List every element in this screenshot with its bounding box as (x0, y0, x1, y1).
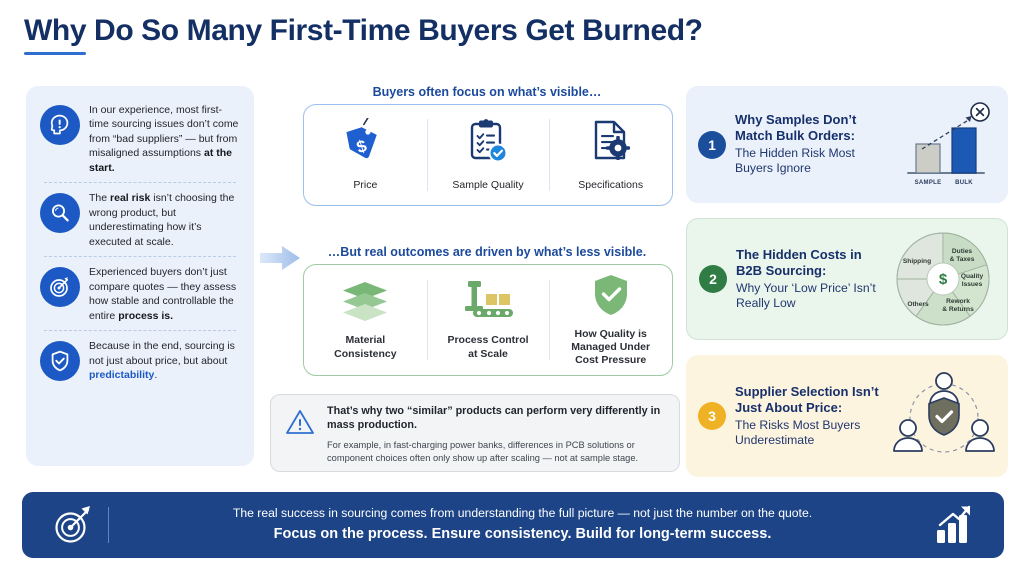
visible-factors-card: $ Price (303, 104, 673, 206)
factor-specifications: Specifications (549, 105, 672, 205)
page-title-block: Why Do So Many First-Time Buyers Get Bur… (24, 14, 703, 55)
card-number-badge: 3 (698, 402, 726, 430)
bar-chart-sample-vs-bulk: SAMPLE BULK (892, 99, 996, 191)
factor-label: MaterialConsistency (334, 334, 396, 360)
target-arrow-icon (42, 504, 104, 546)
svg-text:Issues: Issues (962, 281, 983, 288)
warning-triangle-icon (283, 404, 317, 462)
card-title-light: The Risks Most Buyers Underestimate (735, 418, 892, 449)
hidden-heading: …But real outcomes are driven by what’s … (292, 245, 682, 259)
svg-text:& Returns: & Returns (942, 306, 974, 313)
note-headline: That’s why two “similar” products can pe… (327, 404, 667, 433)
svg-text:Shipping: Shipping (903, 258, 931, 265)
factor-sample-quality: Sample Quality (427, 105, 550, 205)
note-detail: For example, in fast-charging power bank… (327, 439, 667, 465)
factor-label: Sample Quality (452, 179, 523, 192)
svg-text:Others: Others (907, 301, 929, 308)
factor-quality-under-cost: How Quality isManaged UnderCost Pressure (549, 265, 672, 375)
target-arrow-icon (40, 267, 80, 307)
card-title-light: Why Your ‘Low Price’ Isn’t Really Low (736, 281, 891, 312)
card-title-bold: Supplier Selection Isn’t Just About Pric… (735, 384, 892, 416)
factor-label: Price (353, 179, 377, 192)
factor-process-control: Process Controlat Scale (427, 265, 550, 375)
card-number-badge: 1 (698, 131, 726, 159)
card-number-badge: 2 (699, 265, 727, 293)
layers-icon (338, 279, 392, 328)
factor-label: How Quality isManaged UnderCost Pressure (571, 328, 650, 367)
hidden-factors-card: MaterialConsistency (303, 264, 673, 376)
clipboard-check-icon (465, 118, 511, 173)
right-card-hidden-costs[interactable]: 2 The Hidden Costs in B2B Sourcing: Why … (686, 218, 1008, 340)
insight-item-experienced-buyers: Experienced buyers don’t just compare qu… (38, 258, 242, 330)
mass-production-note: That’s why two “similar” products can pe… (270, 394, 680, 472)
insight-text: Experienced buyers don’t just compare qu… (89, 265, 240, 323)
visible-heading: Buyers often focus on what’s visible… (292, 85, 682, 99)
infographic-page: Why Do So Many First-Time Buyers Get Bur… (0, 0, 1024, 576)
factor-label: Process Controlat Scale (447, 334, 528, 360)
svg-text:$: $ (939, 271, 948, 288)
bottom-summary-banner: The real success in sourcing comes from … (22, 492, 1004, 558)
insight-text: Because in the end, sourcing is not just… (89, 339, 240, 382)
factor-price: $ Price (304, 105, 427, 205)
magnifier-icon (40, 193, 80, 233)
factor-material-consistency: MaterialConsistency (304, 265, 427, 375)
card-title-bold: Why Samples Don’t Match Bulk Orders: (735, 112, 892, 144)
insight-item-assumptions: In our experience, most first-time sourc… (38, 96, 242, 182)
svg-text:Duties: Duties (952, 248, 972, 255)
svg-text:& Taxes: & Taxes (950, 256, 975, 263)
insight-item-real-risk: The real risk isn’t choosing the wrong p… (38, 184, 242, 256)
shield-check-icon (40, 341, 80, 381)
svg-text:SAMPLE: SAMPLE (915, 180, 942, 186)
banner-line-2: Focus on the process. Ensure consistency… (123, 524, 922, 546)
svg-text:BULK: BULK (955, 180, 973, 186)
svg-text:Rework: Rework (946, 298, 970, 305)
card-title-light: The Hidden Risk Most Buyers Ignore (735, 146, 892, 177)
supplier-network-shield-icon (892, 366, 996, 466)
shield-check-green-icon (590, 273, 632, 322)
insight-text: The real risk isn’t choosing the wrong p… (89, 191, 240, 249)
insight-item-predictability: Because in the end, sourcing is not just… (38, 332, 242, 389)
svg-text:Quality: Quality (961, 273, 984, 280)
factor-label: Specifications (578, 179, 643, 192)
left-insights-panel: In our experience, most first-time sourc… (26, 86, 254, 466)
right-card-supplier-selection[interactable]: 3 Supplier Selection Isn’t Just About Pr… (686, 355, 1008, 477)
growth-bar-chart-icon (922, 503, 984, 547)
card-title-bold: The Hidden Costs in B2B Sourcing: (736, 247, 891, 279)
insight-text: In our experience, most first-time sourc… (89, 103, 240, 175)
pie-chart-hidden-costs: $ Shipping Duties & Taxes Quality Issues… (891, 227, 995, 331)
document-gear-icon (588, 118, 634, 173)
price-tag-icon: $ (342, 118, 388, 173)
banner-line-1: The real success in sourcing comes from … (123, 504, 922, 522)
page-title: Why Do So Many First-Time Buyers Get Bur… (24, 14, 703, 47)
title-underline-rule (24, 52, 86, 55)
right-card-samples-vs-bulk[interactable]: 1 Why Samples Don’t Match Bulk Orders: T… (686, 86, 1008, 203)
head-exclamation-icon (40, 105, 80, 145)
conveyor-icon (458, 279, 518, 328)
divider (108, 507, 109, 543)
